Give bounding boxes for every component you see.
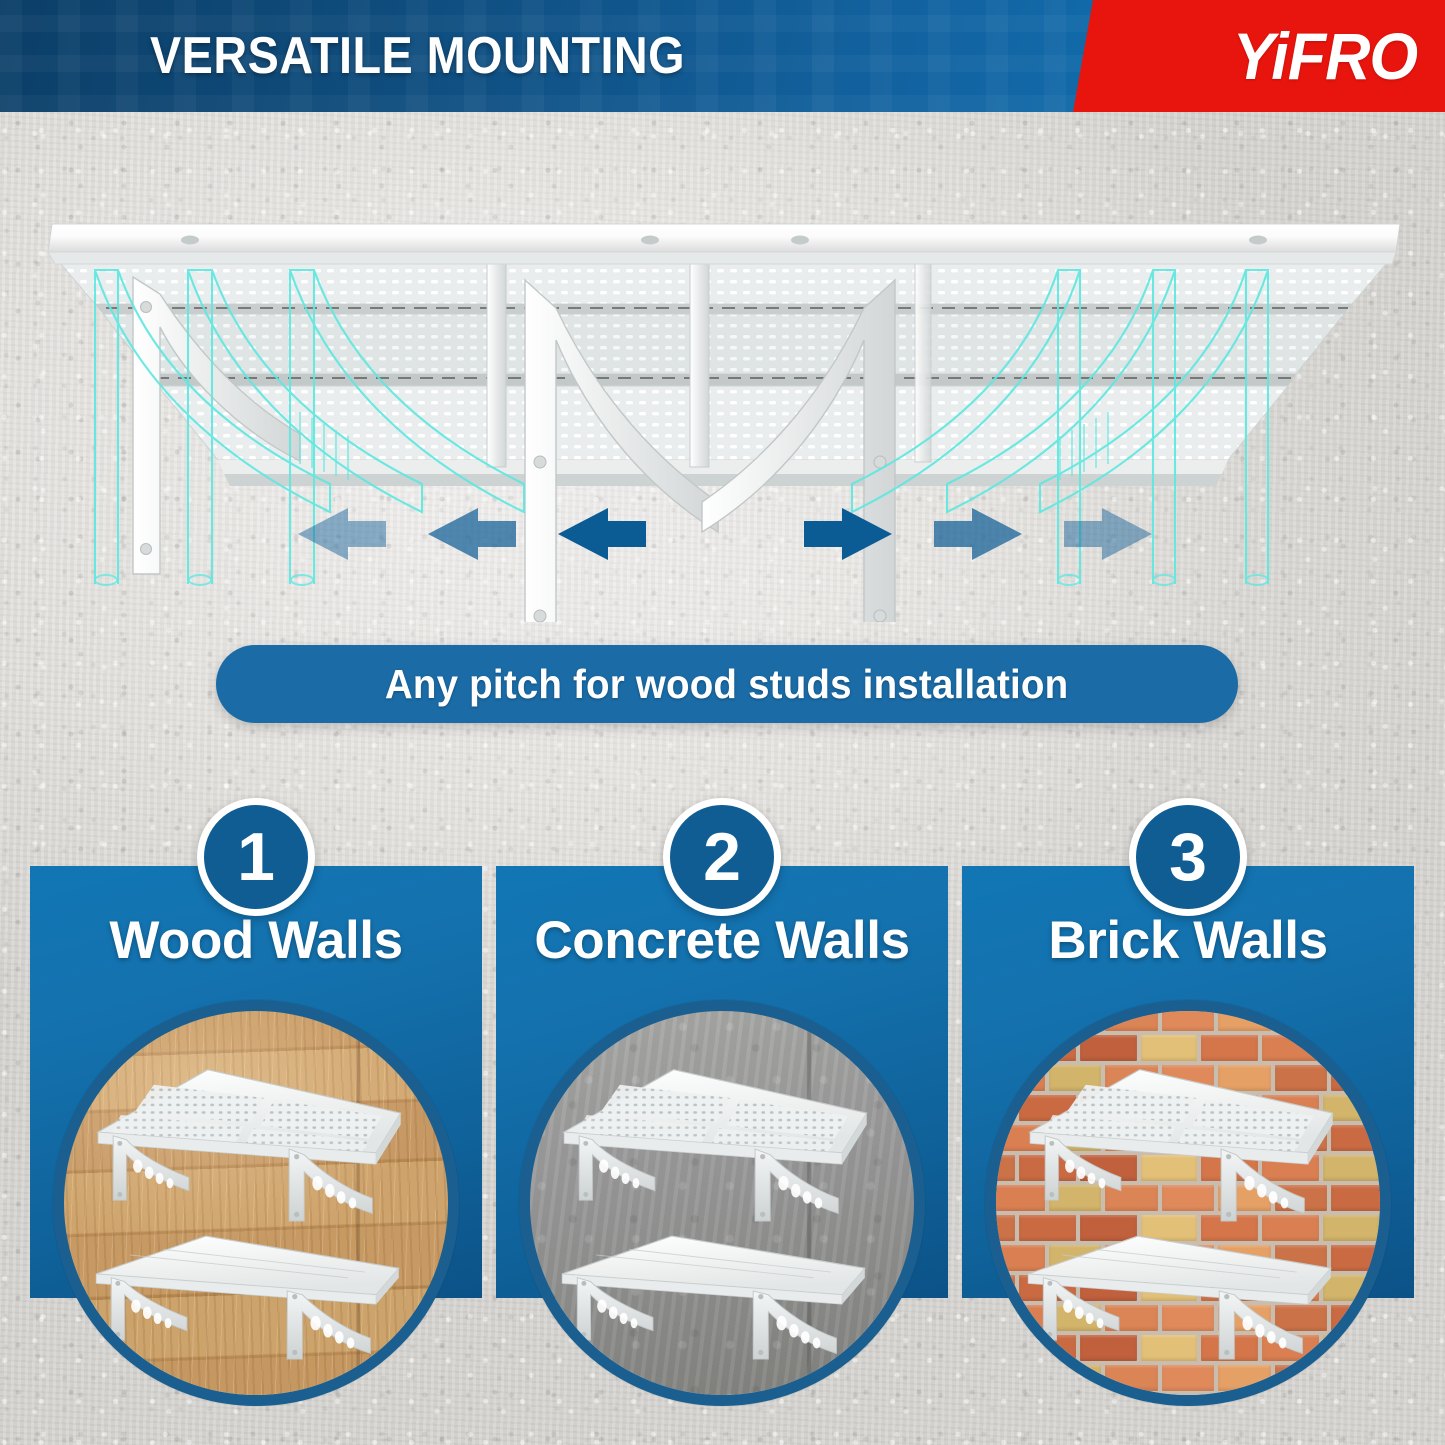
shelf-underside-diagram <box>0 112 1445 622</box>
card-title: Brick Walls <box>962 910 1414 971</box>
card-photo-wood-wall <box>53 1000 459 1406</box>
card-title: Concrete Walls <box>496 910 948 971</box>
arrow-left-3 <box>558 508 646 560</box>
arrow-right-3 <box>1064 508 1152 560</box>
step-badge-2: 2 <box>663 798 781 916</box>
brand-logo: YiFRO <box>1232 0 1417 112</box>
wall-mount-rail <box>48 224 1400 264</box>
arrow-left-1 <box>298 508 386 560</box>
card-photo-brick-wall <box>985 1000 1391 1406</box>
step-badge-number: 3 <box>1169 823 1207 891</box>
shelf-panels <box>55 257 1392 486</box>
arrow-right-2 <box>934 508 1022 560</box>
brick <box>1388 1185 1392 1211</box>
card-title: Wood Walls <box>30 910 482 971</box>
arrow-left-2 <box>428 508 516 560</box>
header-banner: VERSATILE MOUNTING YiFRO <box>0 0 1445 112</box>
step-badge-number: 1 <box>237 823 275 891</box>
step-badge-1: 1 <box>197 798 315 916</box>
shelf-pair-illustration <box>530 1011 914 1395</box>
card-photo-concrete-wall <box>519 1000 925 1406</box>
page-title: VERSATILE MOUNTING <box>150 0 685 112</box>
shelf-pair-illustration <box>64 1011 448 1395</box>
brick <box>985 1185 988 1211</box>
shelf-pair-illustration <box>996 1011 1380 1395</box>
caption-text: Any pitch for wood studs installation <box>385 661 1069 708</box>
caption-banner: Any pitch for wood studs installation <box>216 645 1238 723</box>
hero-product-illustration <box>0 112 1445 622</box>
step-badge-3: 3 <box>1129 798 1247 916</box>
step-badge-number: 2 <box>703 823 741 891</box>
